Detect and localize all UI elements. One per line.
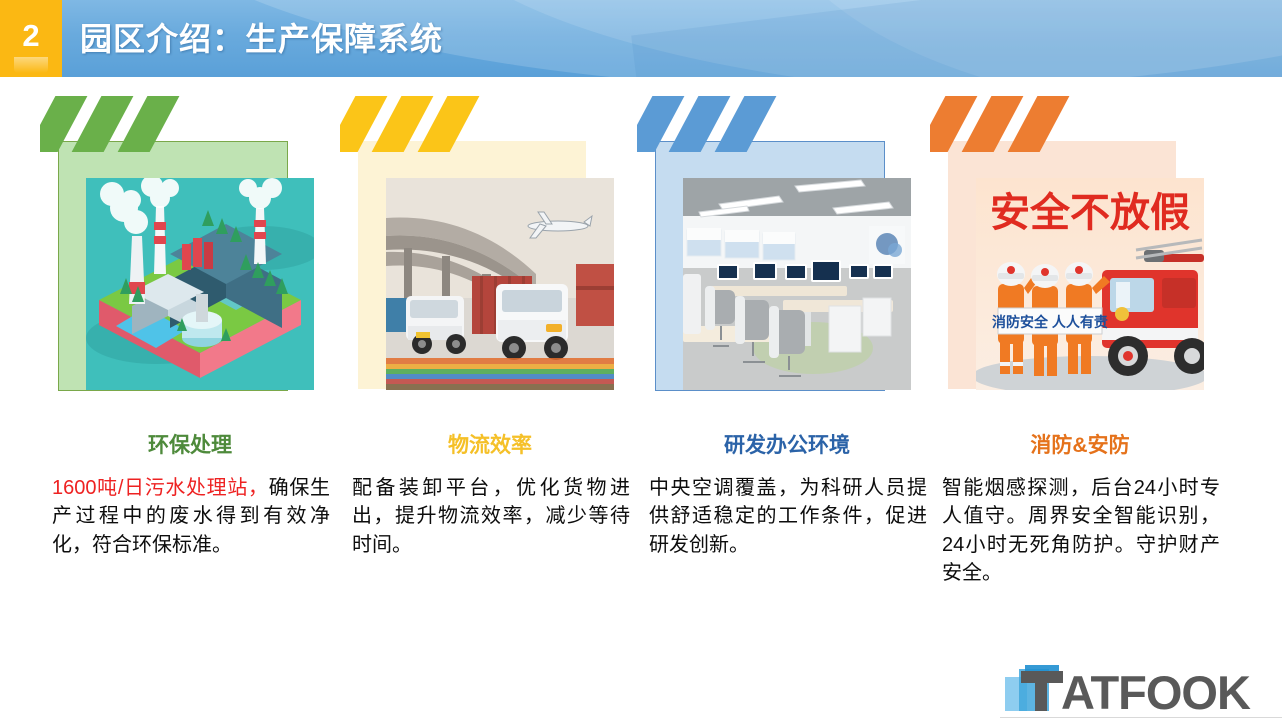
card-title-environmental: 环保处理: [40, 429, 340, 459]
card-environmental: 环保处理 1600吨/日污水处理站，确保生产过程中的废水得到有效净化，符合环保标…: [40, 96, 340, 656]
footer-divider: [1000, 717, 1282, 718]
card-body-rnd-office: 中央空调覆盖，为科研人员提供舒适稳定的工作条件，促进研发创新。: [649, 474, 927, 559]
image-sign-text: 消防安全 人人有责: [992, 314, 1108, 330]
card-logistics: 物流效率 配备装卸平台，优化货物进出，提升物流效率，减少等待时间。: [340, 96, 640, 656]
card-image-rnd-office: [683, 178, 911, 390]
card-rnd-office: 研发办公环境 中央空调覆盖，为科研人员提供舒适稳定的工作条件，促进研发创新。: [637, 96, 937, 656]
card-body-fire-security: 智能烟感探测，后台24小时专人值守。周界安全智能识别，24小时无死角防护。守护财…: [942, 474, 1220, 588]
slide-number: 2: [22, 20, 39, 51]
card-title-fire-security: 消防&安防: [930, 429, 1230, 459]
card-image-logistics: [386, 178, 614, 390]
card-grid: 环保处理 1600吨/日污水处理站，确保生产过程中的废水得到有效净化，符合环保标…: [0, 96, 1282, 656]
accent-stripes-icon: [637, 96, 827, 152]
slide-header: 2 园区介绍：生产保障系统: [0, 0, 1282, 77]
card-image-fire-security: 安全不放假: [976, 178, 1204, 390]
card-fire-security: 安全不放假: [930, 96, 1230, 656]
card-title-logistics: 物流效率: [340, 429, 640, 459]
accent-stripes-icon: [930, 96, 1120, 152]
card-highlight-text: 1600吨/日污水处理站，: [52, 477, 269, 499]
accent-stripes-icon: [40, 96, 230, 152]
slide: 2 园区介绍：生产保障系统: [0, 0, 1282, 721]
slide-number-badge: 2: [0, 0, 62, 77]
logo-text: ATFOOK: [1061, 666, 1251, 715]
card-body-environmental: 1600吨/日污水处理站，确保生产过程中的废水得到有效净化，符合环保标准。: [52, 474, 330, 559]
card-image-environmental: [86, 178, 314, 390]
image-banner-text: 安全不放假: [990, 190, 1190, 235]
card-body-logistics: 配备装卸平台，优化货物进出，提升物流效率，减少等待时间。: [352, 474, 630, 559]
accent-stripes-icon: [340, 96, 530, 152]
card-title-rnd-office: 研发办公环境: [637, 429, 937, 459]
company-logo: ATFOOK: [1003, 663, 1265, 715]
page-title: 园区介绍：生产保障系统: [80, 14, 443, 60]
